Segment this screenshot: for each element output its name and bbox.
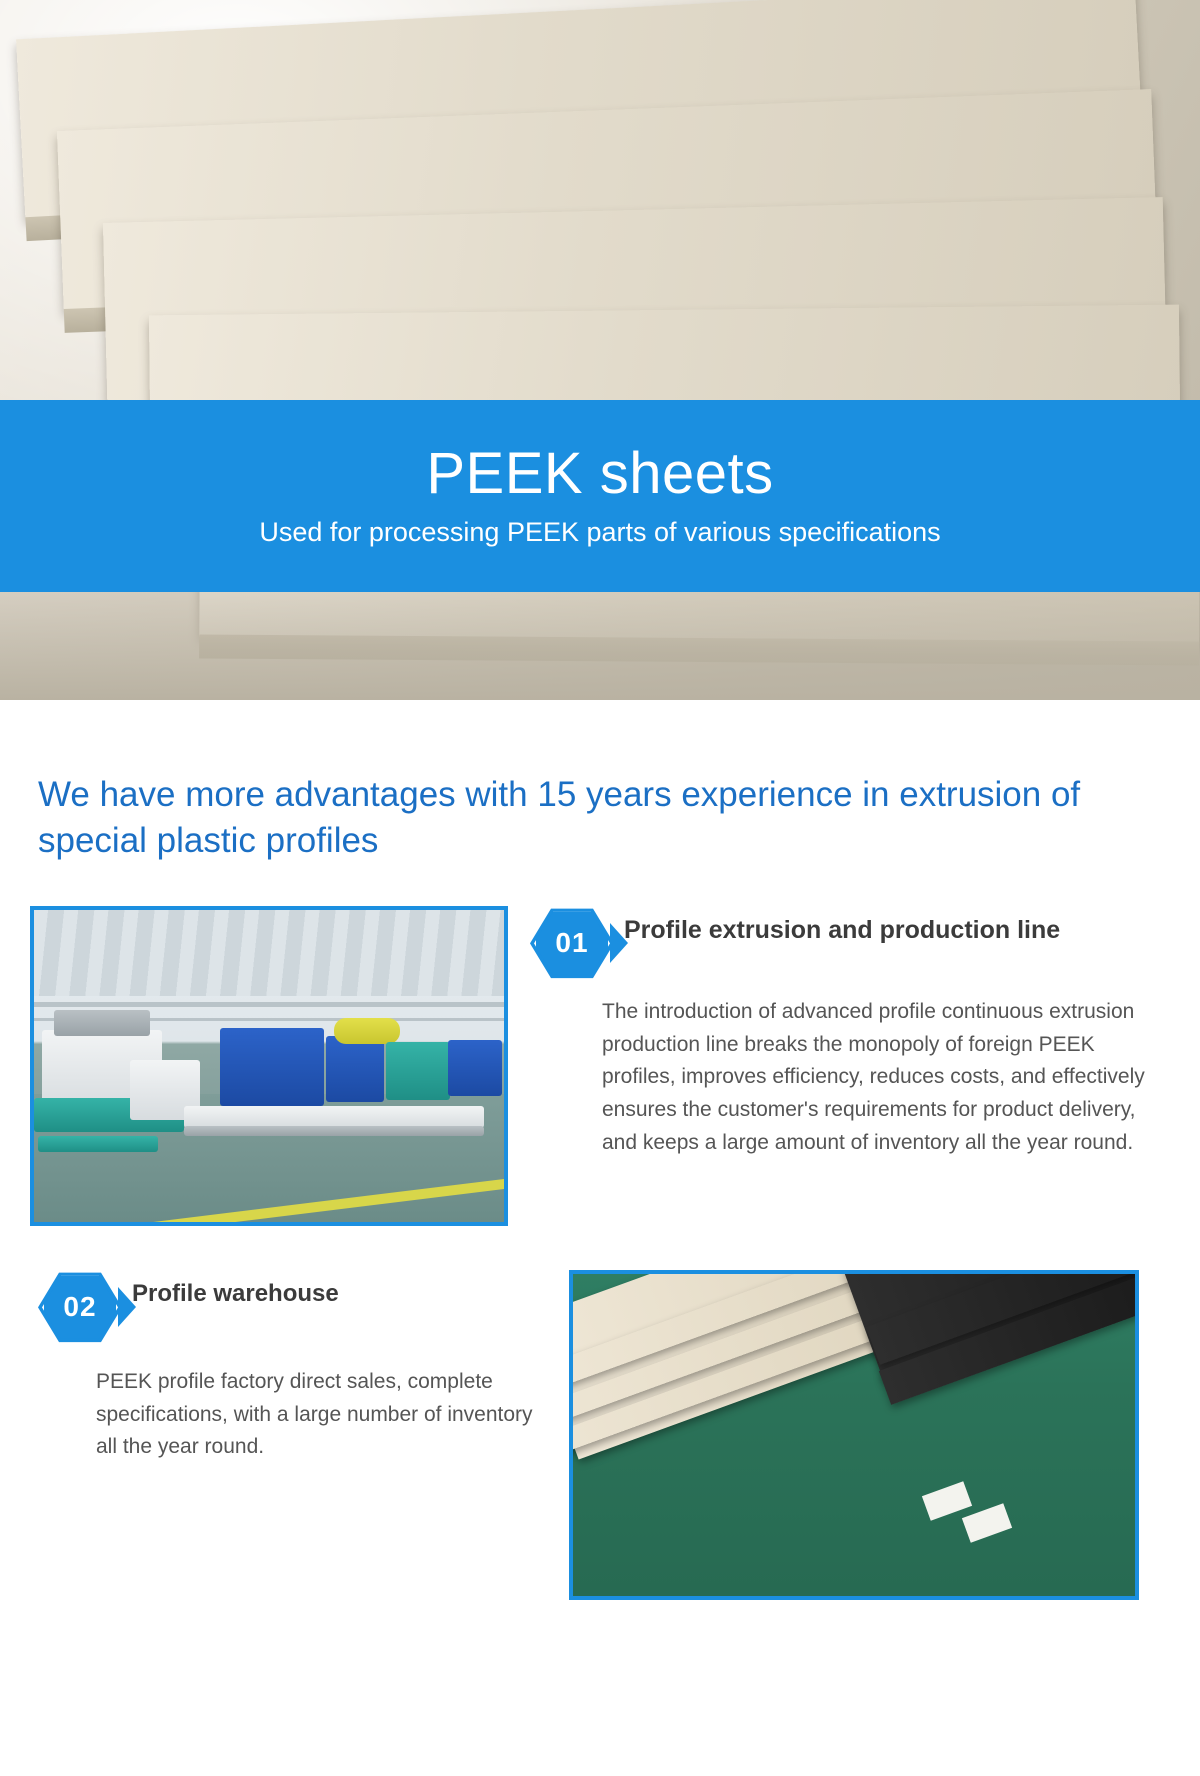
advantage-02-badge: 02 (38, 1270, 122, 1344)
advantages-heading: We have more advantages with 15 years ex… (38, 772, 1160, 864)
badge-tail (610, 923, 628, 963)
advantage-02-text: 02 Profile warehouse PEEK profile factor… (38, 1270, 543, 1464)
advantage-01-badge: 01 (530, 906, 614, 980)
advantage-01-text: 01 Profile extrusion and production line… (530, 906, 1170, 1159)
machine-unit (334, 1018, 400, 1044)
hero-title-band: PEEK sheets Used for processing PEEK par… (0, 400, 1200, 592)
machine-unit (386, 1042, 450, 1100)
advantage-02-photo (569, 1270, 1139, 1600)
machine-unit (38, 1136, 158, 1152)
warehouse-photo (573, 1274, 1135, 1596)
hero-title: PEEK sheets (426, 444, 773, 505)
ceiling-beam (34, 1002, 504, 1007)
advantage-02-title: Profile warehouse (132, 1270, 339, 1309)
advantage-01-photo (30, 906, 508, 1226)
conveyor-base (184, 1126, 484, 1136)
hero-floor (0, 580, 1200, 700)
machine-unit (448, 1040, 502, 1096)
advantage-02-body: PEEK profile factory direct sales, compl… (96, 1366, 536, 1464)
hero-subtitle: Used for processing PEEK parts of variou… (259, 517, 940, 548)
machine-unit (220, 1028, 324, 1106)
machine-unit (54, 1010, 150, 1036)
badge-tail (118, 1287, 136, 1327)
sheet-label (962, 1504, 1012, 1543)
machine-unit (326, 1036, 384, 1102)
advantage-block-01: 01 Profile extrusion and production line… (0, 906, 1200, 1226)
advantage-02-number: 02 (63, 1291, 96, 1323)
ceiling (34, 910, 504, 996)
advantage-01-body: The introduction of advanced profile con… (602, 996, 1170, 1159)
advantage-01-number: 01 (555, 927, 588, 959)
conveyor (184, 1106, 484, 1128)
sheet-label (922, 1482, 972, 1521)
hero-product-photo (0, 0, 1200, 700)
factory-photo (34, 910, 504, 1222)
advantage-block-02: 02 Profile warehouse PEEK profile factor… (0, 1270, 1200, 1600)
advantage-01-title: Profile extrusion and production line (624, 906, 1060, 947)
hero-banner: PEEK sheets Used for processing PEEK par… (0, 0, 1200, 700)
